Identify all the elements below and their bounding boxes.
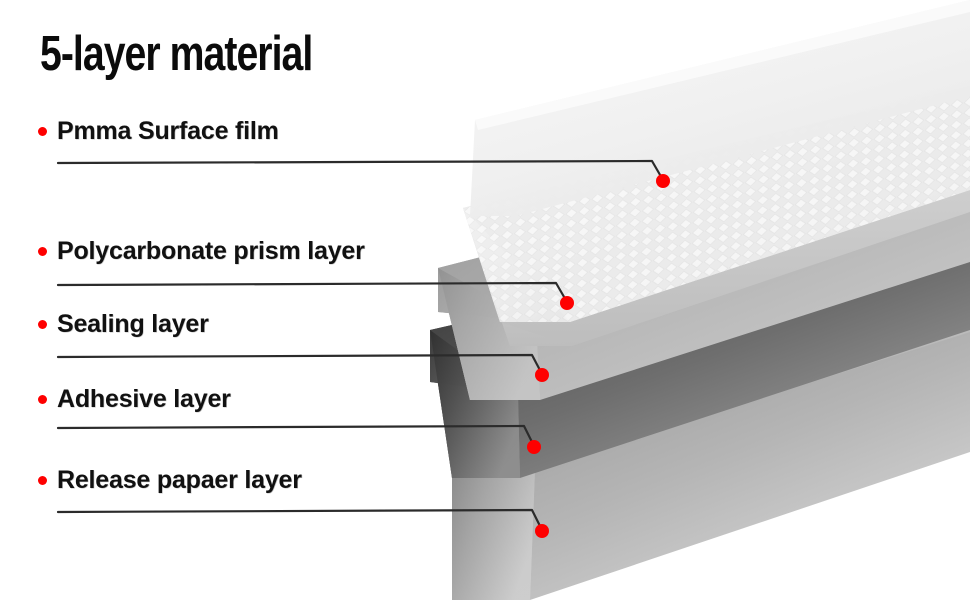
marker-dot-release-papaer-layer bbox=[535, 524, 549, 538]
marker-dot-pmma-surface-film bbox=[656, 174, 670, 188]
callout-label: Release papaer layer bbox=[57, 467, 302, 494]
five-layer-material-illustration bbox=[0, 0, 970, 600]
callout-label: Pmma Surface film bbox=[57, 118, 279, 145]
marker-dot-adhesive-layer bbox=[527, 440, 541, 454]
diagram-canvas: 5-layer material Pmma Surface film Polyc… bbox=[0, 0, 970, 600]
bullet-red-dot-icon bbox=[38, 320, 47, 329]
marker-dot-sealing-layer bbox=[535, 368, 549, 382]
bullet-red-dot-icon bbox=[38, 395, 47, 404]
callout-label: Polycarbonate prism layer bbox=[57, 238, 365, 265]
callout-label: Adhesive layer bbox=[57, 386, 231, 413]
bullet-red-dot-icon bbox=[38, 476, 47, 485]
bullet-red-dot-icon bbox=[38, 247, 47, 256]
bullet-red-dot-icon bbox=[38, 127, 47, 136]
callout-label: Sealing layer bbox=[57, 311, 209, 338]
marker-dot-polycarbonate-prism-layer bbox=[560, 296, 574, 310]
page-title: 5-layer material bbox=[40, 26, 312, 82]
